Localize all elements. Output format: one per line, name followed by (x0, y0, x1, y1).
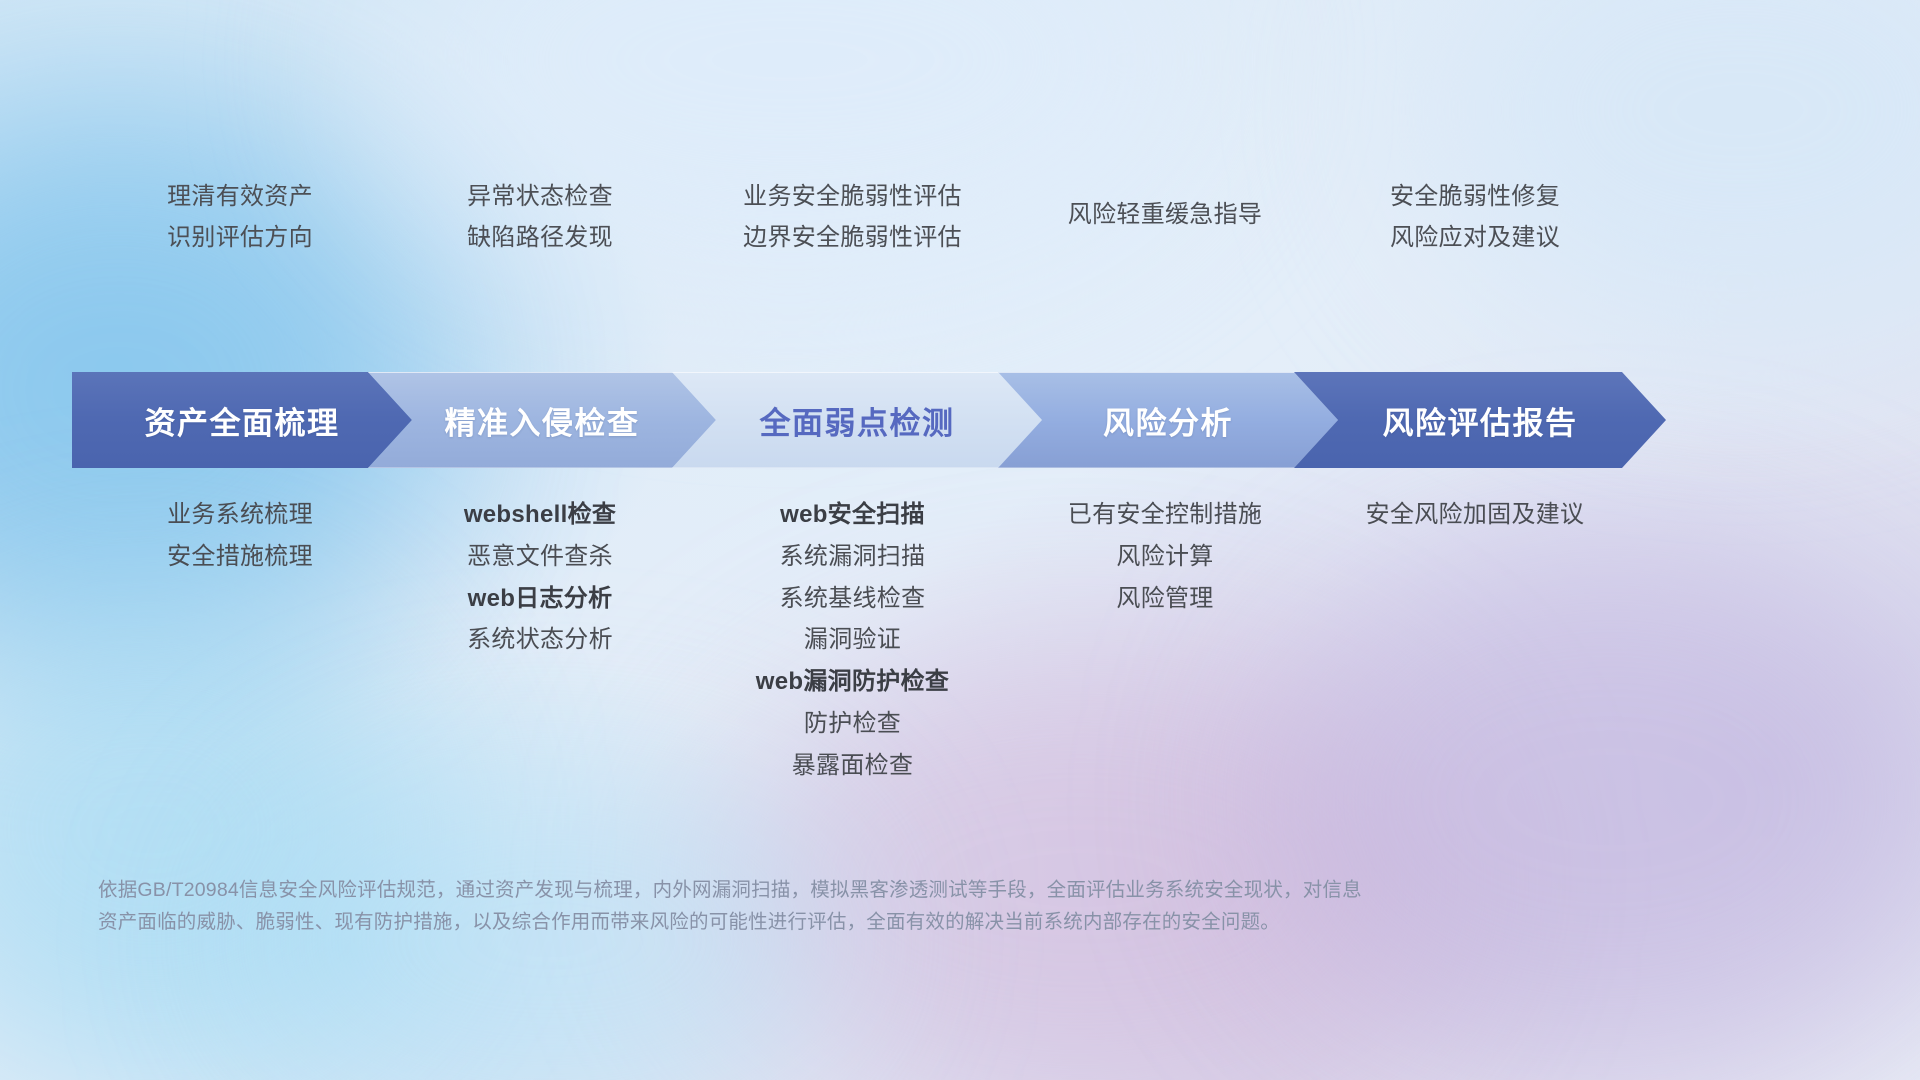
detail-item: 风险计算 (1116, 542, 1213, 572)
top-captions-risk-report: 安全脆弱性修复 风险应对及建议 (1315, 182, 1635, 253)
detail-item: 风险管理 (1116, 584, 1213, 614)
bottom-captions-asset-inventory: 业务系统梳理 安全措施梳理 (90, 500, 390, 572)
bottom-captions-row: 业务系统梳理 安全措施梳理 webshell检查 恶意文件查杀 web日志分析 … (90, 500, 1850, 780)
detail-item: 暴露面检查 (792, 751, 914, 781)
detail-item: web日志分析 (468, 584, 613, 614)
chevron-label: 精准入侵检查 (445, 398, 640, 443)
detail-item: 系统漏洞扫描 (780, 542, 926, 572)
caption-text: 理清有效资产 (167, 182, 313, 211)
detail-item: 已有安全控制措施 (1068, 500, 1262, 530)
top-captions-asset-inventory: 理清有效资产 识别评估方向 (90, 182, 390, 253)
detail-item: 漏洞验证 (804, 625, 901, 655)
chevron-stage-intrusion-check[interactable]: 精准入侵检查 (368, 372, 716, 468)
caption-text: 业务安全脆弱性评估 (743, 182, 962, 211)
detail-item: web安全扫描 (780, 500, 925, 530)
detail-item: 系统状态分析 (467, 625, 613, 655)
detail-item: web漏洞防护检查 (756, 667, 949, 697)
chevron-stage-risk-analysis[interactable]: 风险分析 (998, 372, 1338, 468)
caption-text: 缺陷路径发现 (467, 223, 613, 252)
detail-item: 恶意文件查杀 (467, 542, 613, 572)
footer-line-2: 资产面临的威胁、脆弱性、现有防护措施，以及综合作用而带来风险的可能性进行评估，全… (98, 907, 1658, 939)
bottom-captions-risk-report: 安全风险加固及建议 (1315, 500, 1635, 530)
bottom-captions-risk-analysis: 已有安全控制措施 风险计算 风险管理 (1015, 500, 1315, 613)
detail-item: 系统基线检查 (780, 584, 926, 614)
chevron-stage-weakness-detection[interactable]: 全面弱点检测 (672, 372, 1042, 468)
caption-text: 边界安全脆弱性评估 (743, 223, 962, 252)
caption-text: 识别评估方向 (167, 223, 313, 252)
top-captions-row: 理清有效资产 识别评估方向 异常状态检查 缺陷路径发现 业务安全脆弱性评估 边界… (90, 182, 1850, 253)
bottom-captions-weakness-detection: web安全扫描 系统漏洞扫描 系统基线检查 漏洞验证 web漏洞防护检查 防护检… (690, 500, 1015, 780)
top-captions-risk-analysis: 风险轻重缓急指导 (1015, 182, 1315, 229)
caption-text: 风险应对及建议 (1390, 223, 1560, 252)
detail-item: webshell检查 (464, 500, 616, 530)
background-blob (1420, 0, 1920, 340)
footer-line-1: 依据GB/T20984信息安全风险评估规范，通过资产发现与梳理，内外网漏洞扫描，… (98, 875, 1658, 907)
footer-description: 依据GB/T20984信息安全风险评估规范，通过资产发现与梳理，内外网漏洞扫描，… (98, 875, 1658, 938)
chevron-label: 全面弱点检测 (760, 398, 955, 443)
process-chevron-band: 资产全面梳理 精准入侵检查 全面弱点检测 风险分析 风险评估报告 (72, 372, 1862, 468)
detail-item: 安全措施梳理 (167, 542, 313, 572)
detail-item: 安全风险加固及建议 (1366, 500, 1585, 530)
caption-text: 安全脆弱性修复 (1390, 182, 1560, 211)
chevron-label: 风险分析 (1103, 398, 1233, 443)
chevron-label: 风险评估报告 (1383, 398, 1578, 443)
caption-text: 风险轻重缓急指导 (1068, 200, 1262, 229)
chevron-stage-risk-report[interactable]: 风险评估报告 (1294, 372, 1666, 468)
bottom-captions-intrusion-check: webshell检查 恶意文件查杀 web日志分析 系统状态分析 (390, 500, 690, 655)
caption-text: 异常状态检查 (467, 182, 613, 211)
chevron-label: 资产全面梳理 (145, 398, 340, 443)
slide-canvas: 理清有效资产 识别评估方向 异常状态检查 缺陷路径发现 业务安全脆弱性评估 边界… (0, 0, 1920, 1080)
top-captions-weakness-detection: 业务安全脆弱性评估 边界安全脆弱性评估 (690, 182, 1015, 253)
chevron-stage-asset-inventory[interactable]: 资产全面梳理 (72, 372, 412, 468)
detail-item: 业务系统梳理 (167, 500, 313, 530)
detail-item: 防护检查 (804, 709, 901, 739)
top-captions-intrusion-check: 异常状态检查 缺陷路径发现 (390, 182, 690, 253)
